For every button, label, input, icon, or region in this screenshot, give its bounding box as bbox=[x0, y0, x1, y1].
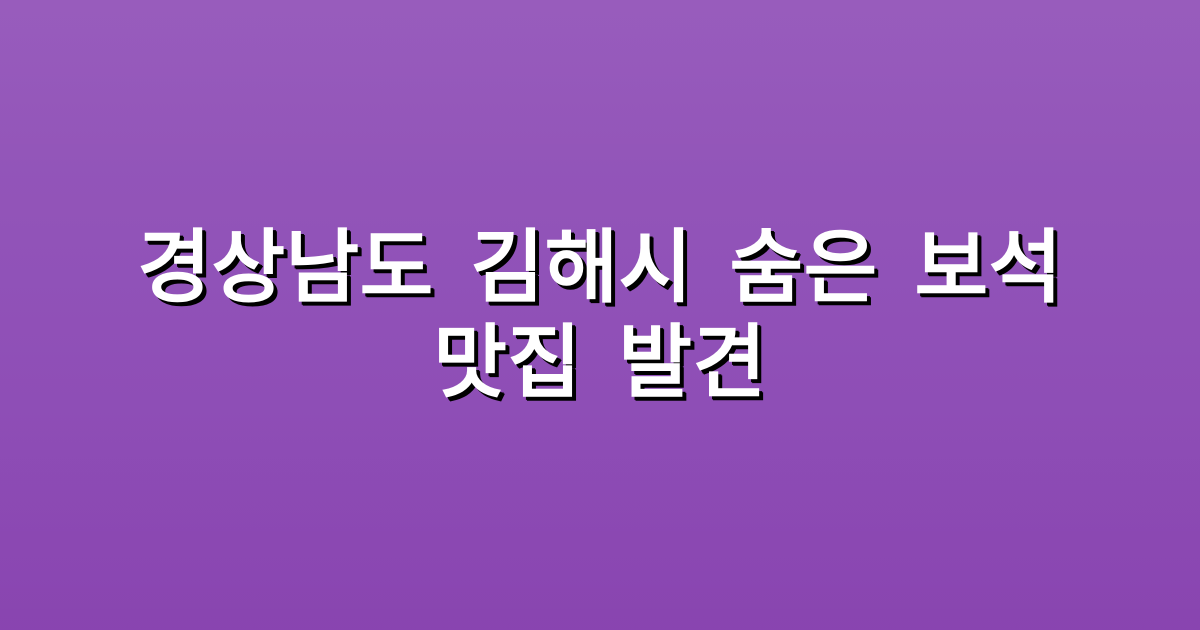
headline-container: 경상남도 김해시 숨은 보석 맛집 발견 bbox=[80, 220, 1120, 410]
banner-headline: 경상남도 김해시 숨은 보석 맛집 발견 bbox=[100, 220, 1100, 410]
social-share-banner: 경상남도 김해시 숨은 보석 맛집 발견 bbox=[0, 0, 1200, 630]
